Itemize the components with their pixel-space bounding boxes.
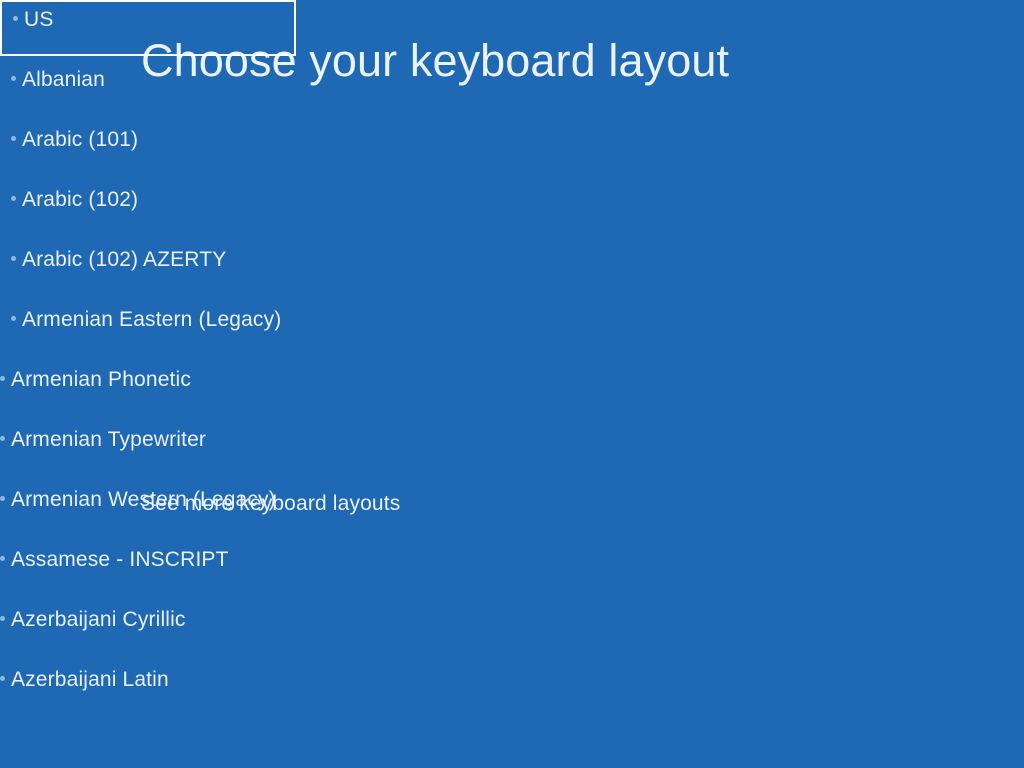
keyboard-layout-option[interactable]: Armenian Phonetic (0, 360, 330, 420)
keyboard-layout-option[interactable]: Arabic (102) (0, 180, 310, 240)
keyboard-layout-option-label: Albanian (22, 69, 105, 90)
keyboard-layout-list-left: USAlbanianArabic (101)Arabic (102)Arabic… (0, 0, 310, 360)
keyboard-layout-option-label: Arabic (102) AZERTY (22, 249, 226, 270)
bullet-icon (11, 136, 16, 141)
keyboard-layout-list-right: Armenian PhoneticArmenian TypewriterArme… (0, 360, 330, 720)
keyboard-layout-option[interactable]: Albanian (0, 60, 310, 120)
keyboard-layout-option[interactable]: Assamese - INSCRIPT (0, 540, 330, 600)
keyboard-layout-option[interactable]: Armenian Eastern (Legacy) (0, 300, 310, 360)
bullet-icon (11, 316, 16, 321)
bullet-icon (11, 256, 16, 261)
bullet-icon (0, 496, 5, 501)
bullet-icon (0, 616, 5, 621)
keyboard-layout-option-label: Arabic (102) (22, 189, 138, 210)
keyboard-layout-option-label: Armenian Eastern (Legacy) (22, 309, 281, 330)
keyboard-layout-option-label: Azerbaijani Cyrillic (11, 609, 186, 630)
bullet-icon (0, 436, 5, 441)
keyboard-layout-option[interactable]: Armenian Typewriter (0, 420, 330, 480)
keyboard-layout-option[interactable]: Arabic (101) (0, 120, 310, 180)
bullet-icon (13, 16, 18, 21)
bullet-icon (0, 376, 5, 381)
keyboard-layout-option-label: Azerbaijani Latin (11, 669, 169, 690)
keyboard-layout-option-label: Armenian Phonetic (11, 369, 191, 390)
keyboard-layout-option-label: Armenian Typewriter (11, 429, 206, 450)
keyboard-layout-option-label: Assamese - INSCRIPT (11, 549, 229, 570)
bullet-icon (0, 676, 5, 681)
keyboard-layout-option-label: US (24, 9, 53, 30)
see-more-keyboard-layouts-link[interactable]: See more keyboard layouts (141, 493, 400, 514)
bullet-icon (11, 196, 16, 201)
bullet-icon (11, 76, 16, 81)
keyboard-layout-option[interactable]: Arabic (102) AZERTY (0, 240, 310, 300)
bullet-icon (0, 556, 5, 561)
keyboard-layout-option-label: Arabic (101) (22, 129, 138, 150)
keyboard-layout-option[interactable]: US (0, 0, 296, 56)
keyboard-layout-screen: Choose your keyboard layout USAlbanianAr… (0, 0, 1024, 768)
keyboard-layout-option[interactable]: Azerbaijani Cyrillic (0, 600, 330, 660)
keyboard-layout-option[interactable]: Azerbaijani Latin (0, 660, 330, 720)
